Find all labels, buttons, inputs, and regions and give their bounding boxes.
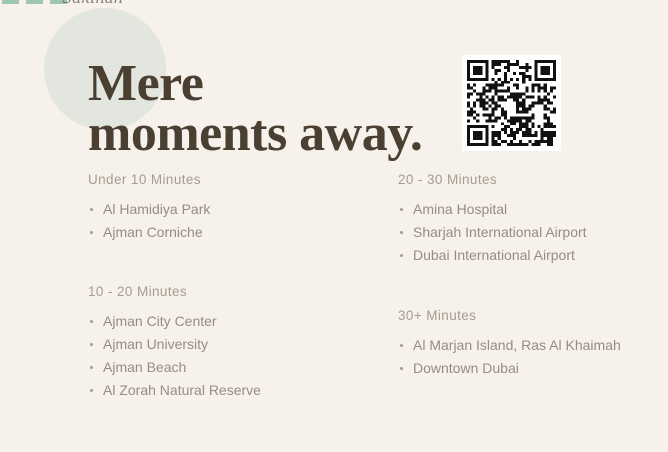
list-item: Al Hamidiya Park [88, 198, 210, 221]
headline-line-2: moments away. [88, 109, 488, 159]
list-item: Ajman Beach [88, 356, 261, 379]
group-20-to-30-minutes: 20 - 30 Minutes Amina HospitalSharjah In… [398, 172, 587, 267]
group-list: Amina HospitalSharjah International Airp… [398, 198, 587, 267]
logo-dash-icon [26, 0, 43, 4]
group-30-plus-minutes: 30+ Minutes Al Marjan Island, Ras Al Kha… [398, 308, 668, 380]
list-item: Amina Hospital [398, 198, 587, 221]
qr-code-image [467, 60, 556, 146]
group-10-to-20-minutes: 10 - 20 Minutes Ajman City CenterAjman U… [88, 284, 261, 402]
presentation-slide: Sakinah Mere moments away. Under 10 Minu… [0, 0, 668, 452]
logo-dash-icon [2, 0, 19, 4]
list-item: Al Zorah Natural Reserve [88, 379, 261, 402]
list-item: Downtown Dubai [398, 357, 668, 380]
list-item: Ajman City Center [88, 310, 261, 333]
brand-logo: Sakinah [0, 0, 180, 9]
list-item: Ajman University [88, 333, 261, 356]
group-list: Al Marjan Island, Ras Al KhaimahDowntown… [398, 334, 668, 380]
list-item: Ajman Corniche [88, 221, 210, 244]
list-item: Al Marjan Island, Ras Al Khaimah [398, 334, 668, 357]
group-list: Al Hamidiya ParkAjman Corniche [88, 198, 210, 244]
group-title: Under 10 Minutes [88, 172, 210, 187]
group-list: Ajman City CenterAjman UniversityAjman B… [88, 310, 261, 402]
qr-code[interactable] [462, 55, 561, 151]
headline-line-1: Mere [88, 59, 488, 109]
group-under-10-minutes: Under 10 Minutes Al Hamidiya ParkAjman C… [88, 172, 210, 244]
logo-wordmark: Sakinah [62, 0, 123, 7]
page-title: Mere moments away. [88, 59, 488, 159]
list-item: Sharjah International Airport [398, 221, 587, 244]
group-title: 10 - 20 Minutes [88, 284, 261, 299]
group-title: 30+ Minutes [398, 308, 668, 323]
group-title: 20 - 30 Minutes [398, 172, 587, 187]
list-item: Dubai International Airport [398, 244, 587, 267]
